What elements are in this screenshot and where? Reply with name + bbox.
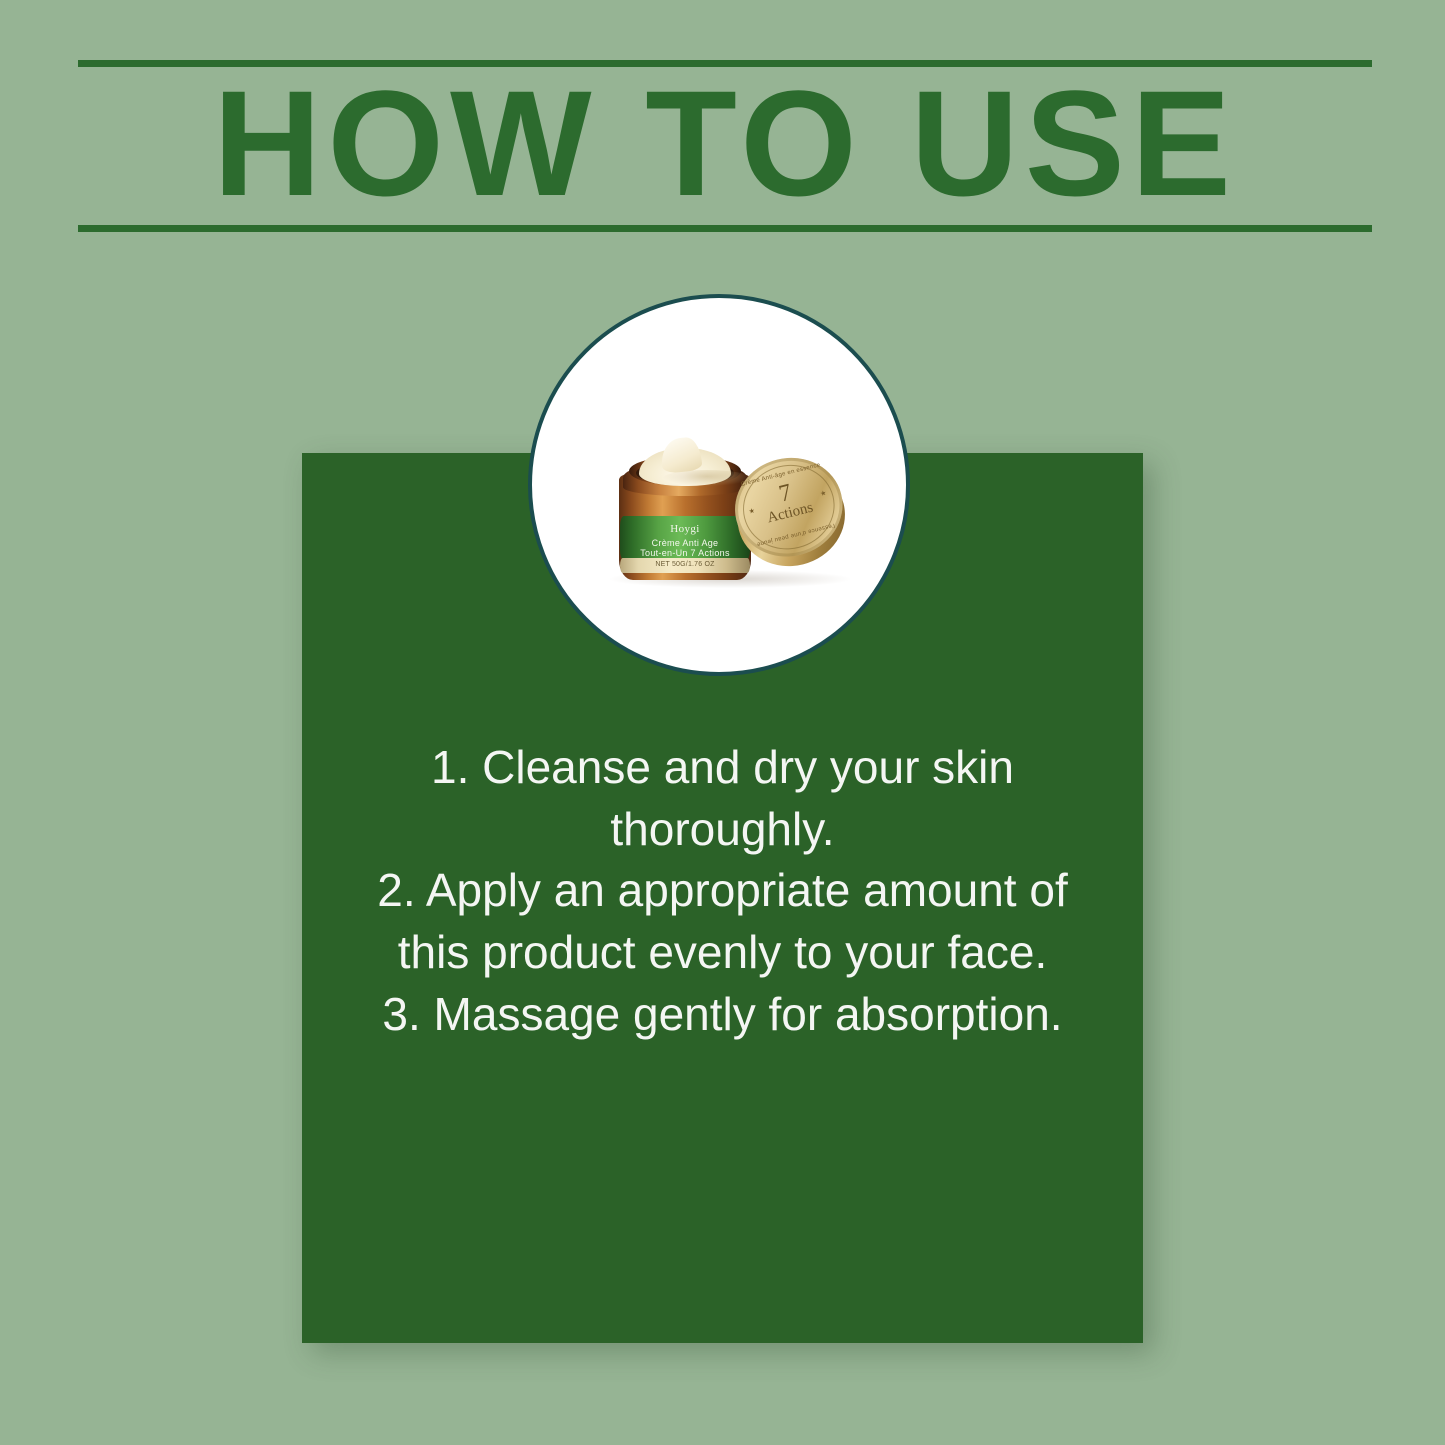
product-image-circle: Hoygi Crème Anti Age Tout-en-Un 7 Action…	[528, 294, 910, 676]
jar-label-band: Hoygi Crème Anti Age Tout-en-Un 7 Action…	[620, 516, 750, 560]
header-rule-bottom	[78, 225, 1372, 232]
label-line-1: Crème Anti Age	[620, 538, 750, 548]
product-illustration: Hoygi Crème Anti Age Tout-en-Un 7 Action…	[532, 298, 910, 676]
label-line-2: Tout-en-Un 7 Actions	[620, 548, 750, 558]
instruction-step-1: 1. Cleanse and dry your skin thoroughly.	[362, 737, 1083, 860]
poster-canvas: HOW TO USE 1. Cleanse and dry your skin …	[0, 0, 1445, 1445]
instruction-step-2: 2. Apply an appropriate amount of this p…	[362, 860, 1083, 983]
header-block: HOW TO USE	[78, 60, 1372, 232]
instruction-step-3: 3. Massage gently for absorption.	[362, 984, 1083, 1046]
net-weight-text: NET 50G/1.76 OZ	[620, 561, 750, 568]
brand-name: Hoygi	[620, 523, 750, 535]
cream-jar-icon: Hoygi Crème Anti Age Tout-en-Un 7 Action…	[617, 446, 753, 582]
cream-peak	[659, 436, 702, 474]
page-title: HOW TO USE	[78, 68, 1372, 218]
instructions-list: 1. Cleanse and dry your skin thoroughly.…	[362, 737, 1083, 1045]
